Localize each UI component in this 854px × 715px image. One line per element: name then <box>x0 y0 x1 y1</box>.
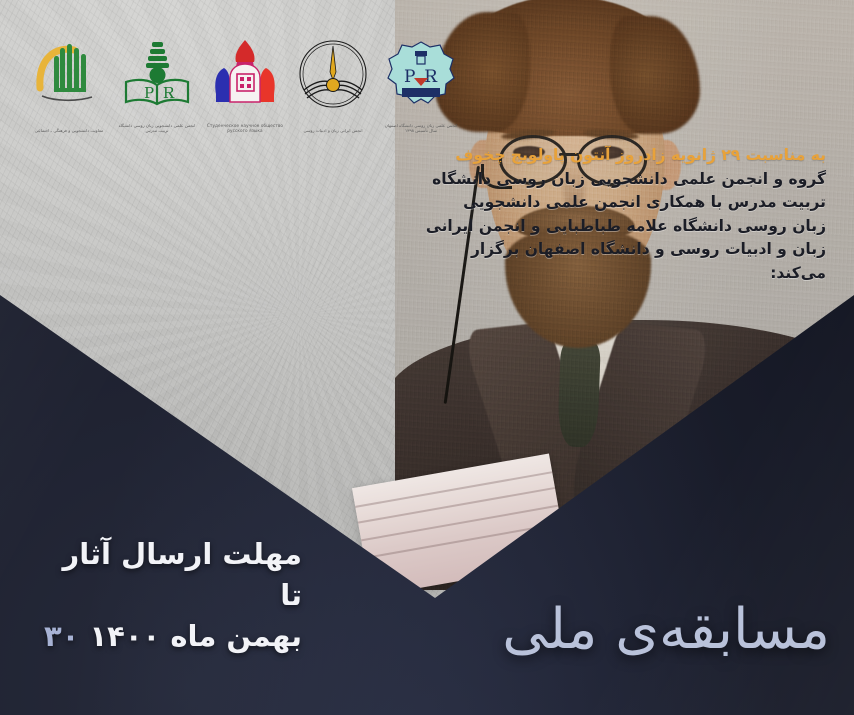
page-title: مسابقه‌ی ملی داستان‌نویسی چخوفی <box>270 524 830 715</box>
tarbiat-modares-university-logo[interactable]: معاونت دانشجویی و فرهنگی ـ اجتماعی <box>30 38 108 134</box>
title-line-1: مسابقه‌ی ملی <box>270 595 830 666</box>
deadline-line-2: بهمن ماه ۱۴۰۰ ۳۰ <box>34 616 302 657</box>
deadline-day-number: ۳۰ <box>44 619 79 653</box>
intro-line-1: گروه و انجمن علمی دانشجویی زبان روسی دان… <box>414 168 826 192</box>
deadline-line-1: مهلت ارسال آثار تا <box>34 534 302 616</box>
poster-canvas: معاونت دانشجویی و فرهنگی ـ اجتماعی Р Я ا <box>0 0 854 715</box>
sponsor-logos-row: معاونت دانشجویی و فرهنگی ـ اجتماعی Р Я ا <box>30 38 450 134</box>
occasion-highlight-line: به مناسبت ۲۹ ژانویه زادروز آنتون پاولویچ… <box>414 144 826 168</box>
svg-text:Р: Р <box>404 67 415 87</box>
intro-line-4: زبان و ادبیات روسی و دانشگاه اصفهان برگز… <box>414 238 826 285</box>
russian-language-student-association-logo[interactable]: Р Я انجمن علمی دانشجویی زبان روسی دانشگا… <box>118 38 196 134</box>
allameh-tabatabai-association-logo[interactable]: Студенческое научное общество русского я… <box>206 38 284 134</box>
iranian-association-russian-language-literature-logo[interactable]: انجمن ایرانی زبان و ادبیات روسی <box>294 38 372 134</box>
isfahan-university-russian-association-logo[interactable]: Р Я انجمن علمی زبان روسی دانشگاه اصفهان … <box>382 38 460 134</box>
intro-line-2: تربیت مدرس با همکاری انجمن علمی دانشجویی <box>414 191 826 215</box>
allameh-association-logo-caption: Студенческое научное общество русского я… <box>206 123 284 134</box>
svg-text:Я: Я <box>163 84 175 102</box>
russian-association-logo-caption: انجمن علمی دانشجویی زبان روسی دانشگاه تر… <box>118 123 196 134</box>
intro-paragraph: به مناسبت ۲۹ ژانویه زادروز آنتون پاولویچ… <box>414 144 826 285</box>
isfahan-association-logo-caption: انجمن علمی زبان روسی دانشگاه اصفهان سال … <box>382 123 460 134</box>
tarbiat-modares-logo-caption: معاونت دانشجویی و فرهنگی ـ اجتماعی <box>30 128 108 134</box>
svg-text:Р: Р <box>144 84 154 102</box>
svg-text:Я: Я <box>424 67 438 87</box>
submission-deadline: مهلت ارسال آثار تا بهمن ماه ۱۴۰۰ ۳۰ <box>34 534 302 658</box>
intro-line-3: زبان روسی دانشگاه علامه طباطبایی و انجمن… <box>414 215 826 239</box>
iranian-association-logo-caption: انجمن ایرانی زبان و ادبیات روسی <box>294 128 372 134</box>
